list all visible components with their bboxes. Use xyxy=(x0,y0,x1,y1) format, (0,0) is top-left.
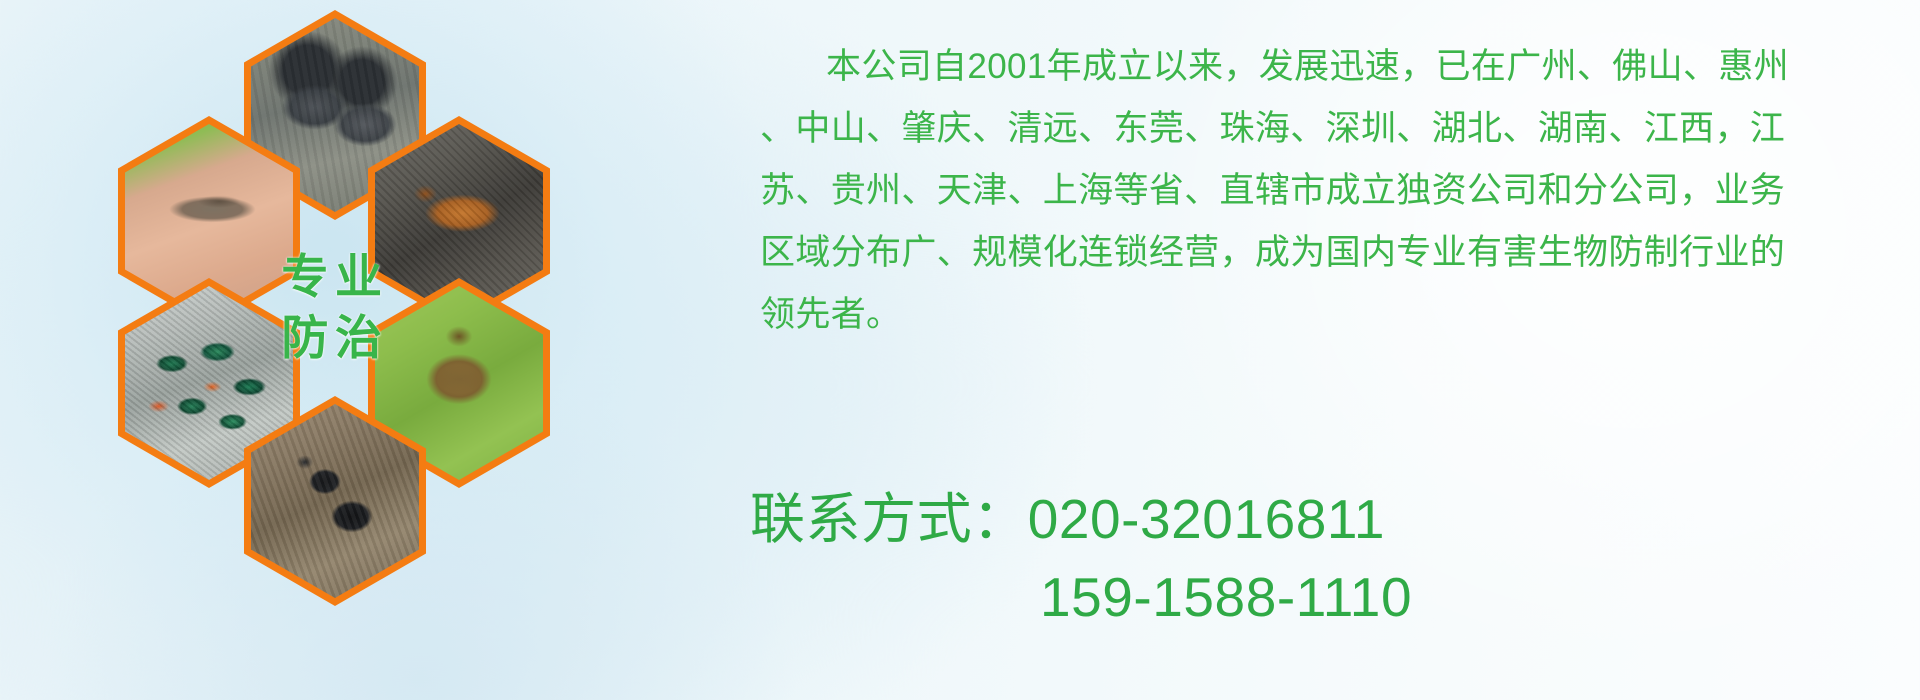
content-column: 本公司自2001年成立以来，发展迅速，已在广州、佛山、惠州 、中山、肇庆、清远、… xyxy=(760,0,1920,700)
company-description: 本公司自2001年成立以来，发展迅速，已在广州、佛山、惠州 、中山、肇庆、清远、… xyxy=(760,36,1900,346)
description-line-3: 苏、贵州、天津、上海等省、直辖市成立独资公司和分公司，业务 xyxy=(760,160,1900,222)
contact-phone-primary[interactable]: 联系方式：020-32016811 xyxy=(750,480,1412,558)
description-line-5: 领先者。 xyxy=(760,284,1900,346)
badge-line-2: 防治 xyxy=(281,314,388,361)
description-line-2: 、中山、肇庆、清远、东莞、珠海、深圳、湖北、湖南、江西，江 xyxy=(760,98,1900,160)
badge-line-1: 专业 xyxy=(281,253,388,300)
contact-phone-mobile[interactable]: 159-1588-1110 xyxy=(750,558,1412,636)
hexagon-photo-cluster: 专业 防治 xyxy=(96,6,596,566)
description-line-1: 本公司自2001年成立以来，发展迅速，已在广州、佛山、惠州 xyxy=(760,36,1900,98)
description-line-4: 区域分布广、规模化连锁经营，成为国内专业有害生物防制行业的 xyxy=(760,222,1900,284)
contact-block: 联系方式：020-32016811 159-1588-1110 xyxy=(750,480,1412,636)
ant-photo xyxy=(251,404,419,598)
